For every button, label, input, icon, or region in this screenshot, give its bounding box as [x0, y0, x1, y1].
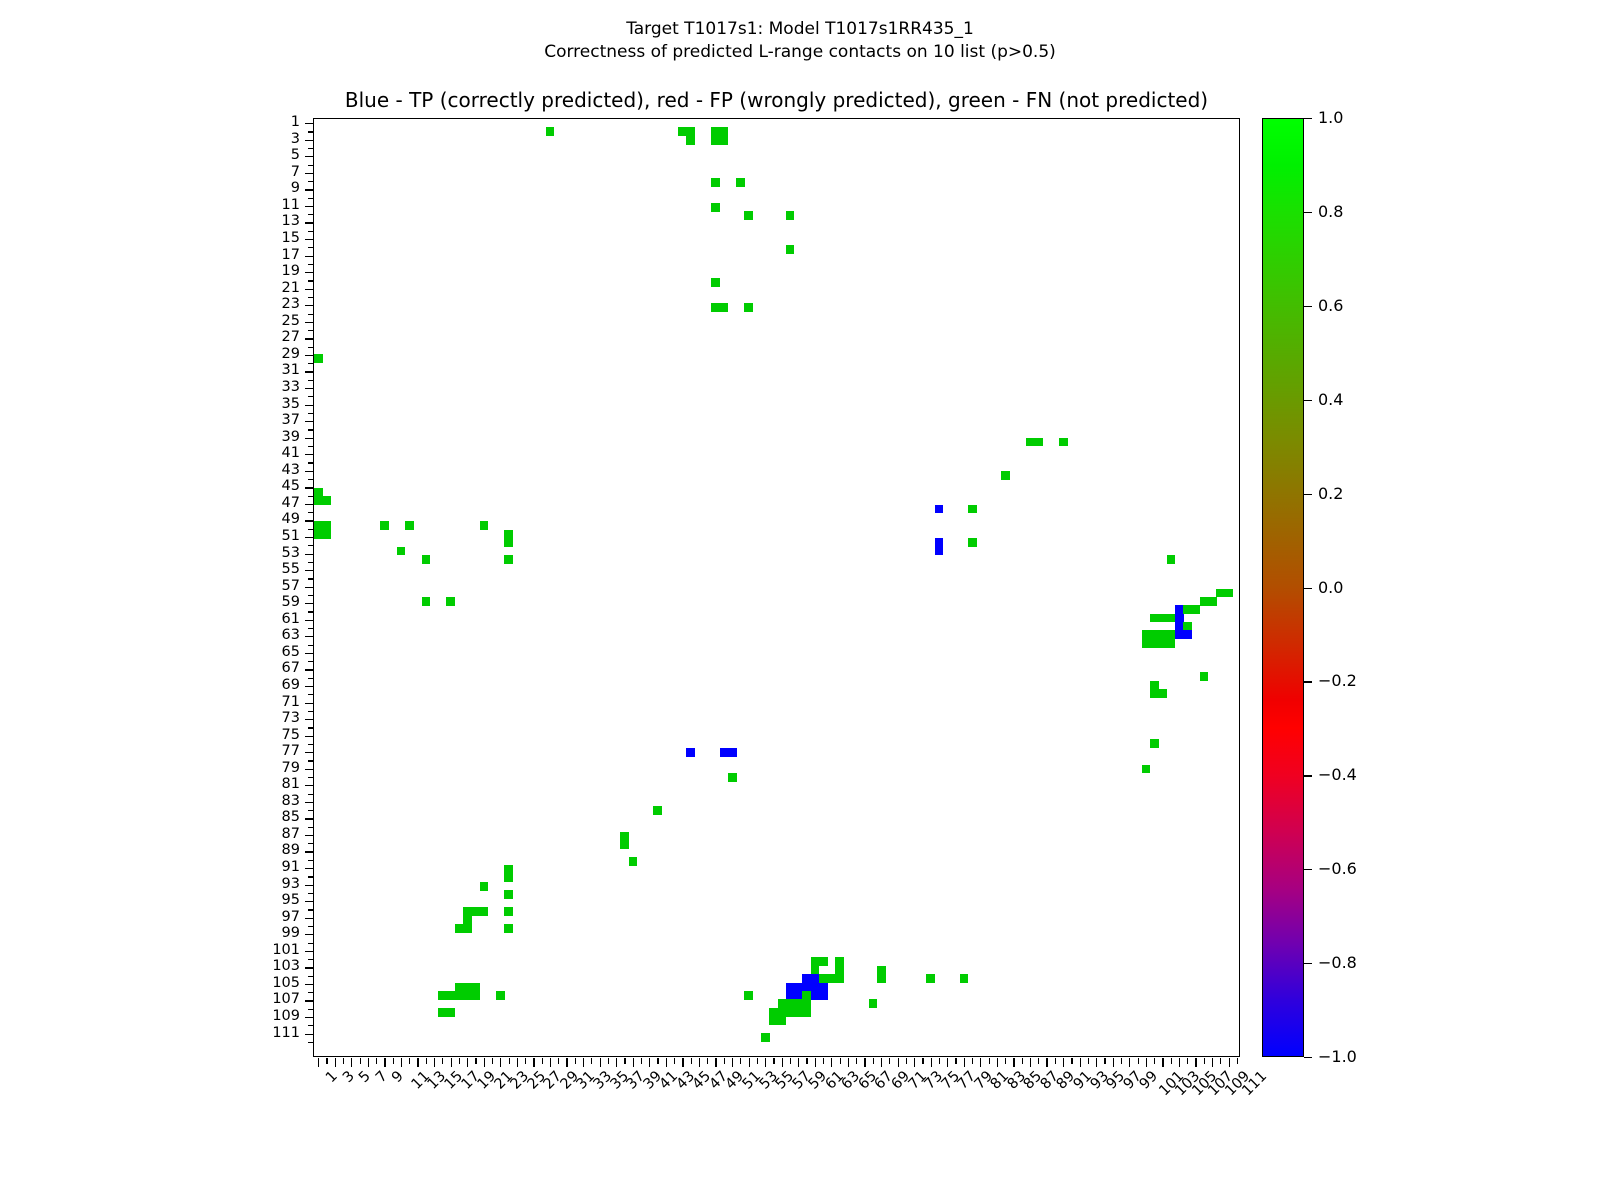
x-tick: [1162, 1058, 1163, 1067]
colorbar-tick-label: 0.6: [1318, 298, 1343, 314]
y-tick: [308, 578, 314, 579]
x-tick: [484, 1058, 485, 1067]
contact-cell-tp: [1183, 630, 1192, 639]
y-tick: [308, 479, 314, 480]
y-tick: [308, 347, 314, 348]
x-tick: [1030, 1058, 1031, 1067]
contact-map-cells: [314, 119, 1239, 1056]
y-tick-label: 75: [0, 728, 300, 743]
contact-cell-fn: [1200, 672, 1209, 681]
y-tick: [305, 835, 314, 836]
y-tick-label: 63: [0, 628, 300, 643]
colorbar-tick: [1304, 494, 1312, 495]
y-tick: [308, 909, 314, 910]
y-tick: [308, 1009, 314, 1010]
x-tick: [691, 1058, 692, 1064]
y-tick-label: 21: [0, 281, 300, 296]
y-tick: [308, 198, 314, 199]
y-tick-label: 45: [0, 479, 300, 494]
y-tick: [305, 934, 314, 935]
x-tick: [682, 1058, 683, 1067]
contact-cell-fn: [1001, 471, 1010, 480]
y-tick: [305, 818, 314, 819]
y-tick: [305, 421, 314, 422]
y-tick: [305, 653, 314, 654]
colorbar-tick-label: −1.0: [1318, 1049, 1357, 1065]
y-tick-label: 69: [0, 678, 300, 693]
y-tick-label: 95: [0, 893, 300, 908]
x-tick: [840, 1058, 841, 1064]
y-tick: [308, 661, 314, 662]
y-tick-label: 23: [0, 297, 300, 312]
contact-cell-fn: [869, 999, 878, 1008]
y-tick: [305, 620, 314, 621]
y-tick: [308, 794, 314, 795]
y-tick: [305, 520, 314, 521]
y-tick: [308, 396, 314, 397]
x-tick: [1080, 1058, 1081, 1067]
colorbar-tick-label: 0.4: [1318, 392, 1343, 408]
x-tick: [575, 1058, 576, 1064]
x-tick: [1121, 1058, 1122, 1064]
y-tick-label: 85: [0, 810, 300, 825]
colorbar-tick: [1304, 400, 1312, 401]
y-tick: [308, 860, 314, 861]
y-tick: [305, 239, 314, 240]
y-tick: [308, 976, 314, 977]
x-tick: [922, 1058, 923, 1064]
x-tick: [1195, 1058, 1196, 1067]
y-tick: [308, 678, 314, 679]
x-tick: [1088, 1058, 1089, 1064]
contact-cell-fn: [322, 496, 331, 505]
y-tick: [305, 256, 314, 257]
contact-cell-tp: [819, 991, 828, 1000]
contact-cell-tp: [728, 748, 737, 757]
y-tick: [305, 868, 314, 869]
x-tick: [1138, 1058, 1139, 1064]
x-tick: [831, 1058, 832, 1067]
contact-cell-fn: [422, 555, 431, 564]
contact-cell-fn: [446, 1008, 455, 1017]
x-tick: [591, 1058, 592, 1064]
x-tick: [873, 1058, 874, 1064]
contact-cell-fn: [471, 991, 480, 1000]
y-tick-label: 29: [0, 347, 300, 362]
x-tick: [1204, 1058, 1205, 1064]
y-tick: [305, 338, 314, 339]
y-tick: [305, 504, 314, 505]
contact-cell-fn: [504, 555, 513, 564]
y-tick: [308, 247, 314, 248]
x-tick: [318, 1058, 319, 1067]
y-tick: [305, 1000, 314, 1001]
contact-cell-fn: [877, 974, 886, 983]
x-tick: [368, 1058, 369, 1067]
x-tick: [715, 1058, 716, 1067]
y-tick: [308, 943, 314, 944]
x-tick: [525, 1058, 526, 1064]
y-tick: [305, 140, 314, 141]
x-tick: [624, 1058, 625, 1064]
x-tick: [1022, 1058, 1023, 1064]
y-tick: [308, 893, 314, 894]
y-tick: [305, 918, 314, 919]
contact-cell-fn: [786, 245, 795, 254]
y-tick: [305, 305, 314, 306]
x-tick: [1146, 1058, 1147, 1067]
contact-cell-fn: [720, 136, 729, 145]
x-tick: [773, 1058, 774, 1064]
y-tick-label: 15: [0, 231, 300, 246]
y-tick-label: 53: [0, 546, 300, 561]
y-tick-label: 87: [0, 827, 300, 842]
x-tick: [417, 1058, 418, 1067]
x-tick: [1129, 1058, 1130, 1067]
y-tick: [305, 769, 314, 770]
y-tick: [305, 123, 314, 124]
contact-cell-fn: [620, 840, 629, 849]
y-tick-label: 39: [0, 430, 300, 445]
y-tick: [308, 214, 314, 215]
contact-cell-fn: [1158, 689, 1167, 698]
x-tick: [376, 1058, 377, 1064]
y-tick-label: 73: [0, 711, 300, 726]
y-tick-label: 99: [0, 926, 300, 941]
y-tick: [308, 264, 314, 265]
y-tick: [308, 926, 314, 927]
x-tick: [1187, 1058, 1188, 1064]
x-tick: [914, 1058, 915, 1067]
y-tick: [305, 570, 314, 571]
y-tick-label: 41: [0, 446, 300, 461]
x-tick: [964, 1058, 965, 1067]
y-tick: [308, 314, 314, 315]
x-tick: [608, 1058, 609, 1064]
x-tick: [384, 1058, 385, 1067]
y-tick: [305, 951, 314, 952]
contact-cell-fn: [744, 211, 753, 220]
y-tick-label: 57: [0, 579, 300, 594]
y-tick: [308, 330, 314, 331]
x-tick: [782, 1058, 783, 1067]
contact-cell-fn: [405, 521, 414, 530]
y-tick: [305, 322, 314, 323]
y-tick: [308, 380, 314, 381]
y-tick: [305, 554, 314, 555]
x-tick: [1179, 1058, 1180, 1067]
x-tick: [434, 1058, 435, 1067]
y-tick: [305, 901, 314, 902]
x-tick: [500, 1058, 501, 1067]
x-tick: [765, 1058, 766, 1067]
colorbar-tick: [1304, 1057, 1312, 1058]
y-tick: [308, 512, 314, 513]
contact-cell-fn: [471, 983, 480, 992]
y-tick-label: 47: [0, 496, 300, 511]
x-tick: [947, 1058, 948, 1067]
y-tick: [308, 363, 314, 364]
x-tick: [666, 1058, 667, 1067]
y-tick: [308, 297, 314, 298]
x-tick: [740, 1058, 741, 1064]
x-tick: [649, 1058, 650, 1067]
colorbar-tick: [1304, 212, 1312, 213]
x-tick: [533, 1058, 534, 1067]
y-tick-label: 59: [0, 595, 300, 610]
y-tick-label: 27: [0, 330, 300, 345]
x-tick: [335, 1058, 336, 1067]
y-tick: [305, 636, 314, 637]
x-tick: [1096, 1058, 1097, 1067]
y-tick-label: 33: [0, 380, 300, 395]
contact-cell-fn: [686, 136, 695, 145]
y-tick: [305, 719, 314, 720]
x-tick: [1046, 1058, 1047, 1067]
x-tick: [1220, 1058, 1221, 1064]
y-tick-label: 91: [0, 860, 300, 875]
x-tick: [798, 1058, 799, 1067]
y-tick-label: 55: [0, 562, 300, 577]
x-tick: [732, 1058, 733, 1067]
y-tick-label: 67: [0, 661, 300, 676]
x-tick: [1055, 1058, 1056, 1064]
y-tick-label: 105: [0, 976, 300, 991]
contact-cell-fn: [546, 127, 555, 136]
contact-cell-fn: [778, 1016, 787, 1025]
y-tick: [308, 694, 314, 695]
contact-cell-fn: [504, 907, 513, 916]
contact-cell-fn: [968, 505, 977, 514]
y-tick-label: 93: [0, 877, 300, 892]
x-tick: [906, 1058, 907, 1064]
y-tick: [305, 272, 314, 273]
x-tick: [467, 1058, 468, 1067]
y-tick-label: 81: [0, 777, 300, 792]
y-tick: [305, 206, 314, 207]
y-tick: [308, 462, 314, 463]
y-tick: [305, 851, 314, 852]
contact-cell-fn: [1150, 739, 1159, 748]
y-tick: [308, 595, 314, 596]
y-tick-label: 89: [0, 843, 300, 858]
x-tick: [426, 1058, 427, 1064]
colorbar-gradient: [1262, 118, 1304, 1057]
y-tick: [308, 148, 314, 149]
y-tick-label: 5: [0, 148, 300, 163]
x-tick: [492, 1058, 493, 1064]
x-tick: [707, 1058, 708, 1064]
colorbar-tick-label: −0.6: [1318, 861, 1357, 877]
y-tick: [305, 173, 314, 174]
contact-map-plot: [313, 118, 1240, 1057]
y-tick-label: 61: [0, 612, 300, 627]
x-tick: [393, 1058, 394, 1064]
y-tick: [305, 355, 314, 356]
y-tick: [305, 967, 314, 968]
y-tick: [305, 752, 314, 753]
x-tick: [989, 1058, 990, 1064]
x-tick: [401, 1058, 402, 1067]
legend-subtitle: Blue - TP (correctly predicted), red - F…: [313, 88, 1240, 112]
y-tick-label: 1: [0, 115, 300, 130]
x-tick: [881, 1058, 882, 1067]
contact-cell-fn: [422, 597, 431, 606]
colorbar-tick-label: −0.4: [1318, 767, 1357, 783]
contact-cell-fn: [629, 857, 638, 866]
contact-cell-fn: [744, 991, 753, 1000]
x-tick: [898, 1058, 899, 1067]
x-tick: [931, 1058, 932, 1067]
x-tick: [409, 1058, 410, 1064]
x-tick: [583, 1058, 584, 1067]
contact-cell-fn: [1167, 555, 1176, 564]
x-tick: [1038, 1058, 1039, 1064]
x-tick: [806, 1058, 807, 1064]
x-tick: [657, 1058, 658, 1064]
contact-cell-fn: [504, 538, 513, 547]
x-tick: [542, 1058, 543, 1064]
contact-cell-fn: [1191, 605, 1200, 614]
y-tick: [308, 744, 314, 745]
y-tick: [308, 280, 314, 281]
y-tick: [308, 843, 314, 844]
x-tick: [848, 1058, 849, 1067]
x-tick: [442, 1058, 443, 1064]
x-tick: [699, 1058, 700, 1067]
x-tick: [823, 1058, 824, 1064]
y-tick-label: 43: [0, 463, 300, 478]
contact-cell-fn: [1142, 765, 1151, 774]
contact-cell-fn: [1059, 438, 1068, 447]
x-tick: [343, 1058, 344, 1064]
y-tick-label: 31: [0, 363, 300, 378]
contact-cell-fn: [504, 890, 513, 899]
colorbar-tick-label: 1.0: [1318, 110, 1343, 126]
y-tick: [308, 876, 314, 877]
x-tick: [1237, 1058, 1238, 1064]
x-tick: [815, 1058, 816, 1067]
y-tick: [305, 471, 314, 472]
y-tick-label: 83: [0, 794, 300, 809]
y-tick: [308, 711, 314, 712]
y-tick: [308, 231, 314, 232]
x-tick: [724, 1058, 725, 1064]
x-tick: [757, 1058, 758, 1064]
y-tick: [305, 487, 314, 488]
x-tick: [1154, 1058, 1155, 1064]
y-tick: [308, 429, 314, 430]
contact-cell-fn: [397, 547, 406, 556]
contact-cell-fn: [728, 773, 737, 782]
x-tick: [972, 1058, 973, 1064]
y-tick: [305, 587, 314, 588]
title-line-1: Target T1017s1: Model T1017s1RR435_1: [0, 18, 1600, 41]
contact-cell-fn: [926, 974, 935, 983]
x-tick: [980, 1058, 981, 1067]
colorbar-tick: [1304, 869, 1312, 870]
x-tick: [633, 1058, 634, 1067]
y-tick-label: 103: [0, 959, 300, 974]
contact-cell-fn: [819, 957, 828, 966]
contact-cell-fn: [711, 278, 720, 287]
y-tick-label: 51: [0, 529, 300, 544]
x-tick: [955, 1058, 956, 1064]
contact-cell-fn: [480, 907, 489, 916]
x-tick: [997, 1058, 998, 1067]
y-tick: [308, 760, 314, 761]
colorbar-tick: [1304, 681, 1312, 682]
y-tick: [308, 1025, 314, 1026]
colorbar-tick-label: 0.2: [1318, 486, 1343, 502]
contact-cell-fn: [720, 303, 729, 312]
x-tick: [856, 1058, 857, 1064]
x-tick: [1063, 1058, 1064, 1067]
contact-cell-fn: [1167, 639, 1176, 648]
y-tick: [305, 289, 314, 290]
colorbar-tick-label: 0.0: [1318, 580, 1343, 596]
x-tick: [509, 1058, 510, 1064]
contact-cell-fn: [504, 924, 513, 933]
contact-cell-fn: [480, 882, 489, 891]
contact-cell-fn: [736, 178, 745, 187]
x-tick: [459, 1058, 460, 1064]
contact-cell-fn: [786, 211, 795, 220]
y-tick: [305, 785, 314, 786]
y-tick: [308, 165, 314, 166]
x-tick: [326, 1058, 327, 1064]
x-tick: [674, 1058, 675, 1064]
contact-cell-fn: [496, 991, 505, 1000]
y-tick: [308, 645, 314, 646]
y-tick: [305, 405, 314, 406]
y-tick: [308, 181, 314, 182]
colorbar-tick-label: 0.8: [1318, 204, 1343, 220]
y-tick: [308, 562, 314, 563]
x-tick: [749, 1058, 750, 1067]
y-tick: [305, 438, 314, 439]
x-tick: [1212, 1058, 1213, 1067]
colorbar-tick-label: −0.2: [1318, 673, 1357, 689]
y-tick-label: 71: [0, 695, 300, 710]
contact-cell-fn: [960, 974, 969, 983]
y-tick: [308, 529, 314, 530]
y-tick: [308, 611, 314, 612]
y-tick-label: 107: [0, 992, 300, 1007]
contact-cell-fn: [968, 538, 977, 547]
x-tick: [1171, 1058, 1172, 1064]
y-tick: [305, 603, 314, 604]
contact-cell-tp: [686, 748, 695, 757]
x-tick: [360, 1058, 361, 1064]
x-tick: [1071, 1058, 1072, 1064]
contact-cell-fn: [446, 597, 455, 606]
y-tick: [305, 686, 314, 687]
y-tick-label: 111: [0, 1026, 300, 1041]
y-tick: [305, 703, 314, 704]
y-tick-label: 19: [0, 264, 300, 279]
y-tick: [305, 669, 314, 670]
figure-title: Target T1017s1: Model T1017s1RR435_1 Cor…: [0, 18, 1600, 64]
y-tick-label: 17: [0, 248, 300, 263]
contact-cell-tp: [935, 547, 944, 556]
contact-cell-fn: [504, 874, 513, 883]
x-tick: [939, 1058, 940, 1064]
y-tick: [308, 727, 314, 728]
contact-cell-fn: [761, 1033, 770, 1042]
contact-cell-fn: [653, 806, 662, 815]
x-tick-label: 3: [340, 1069, 357, 1086]
